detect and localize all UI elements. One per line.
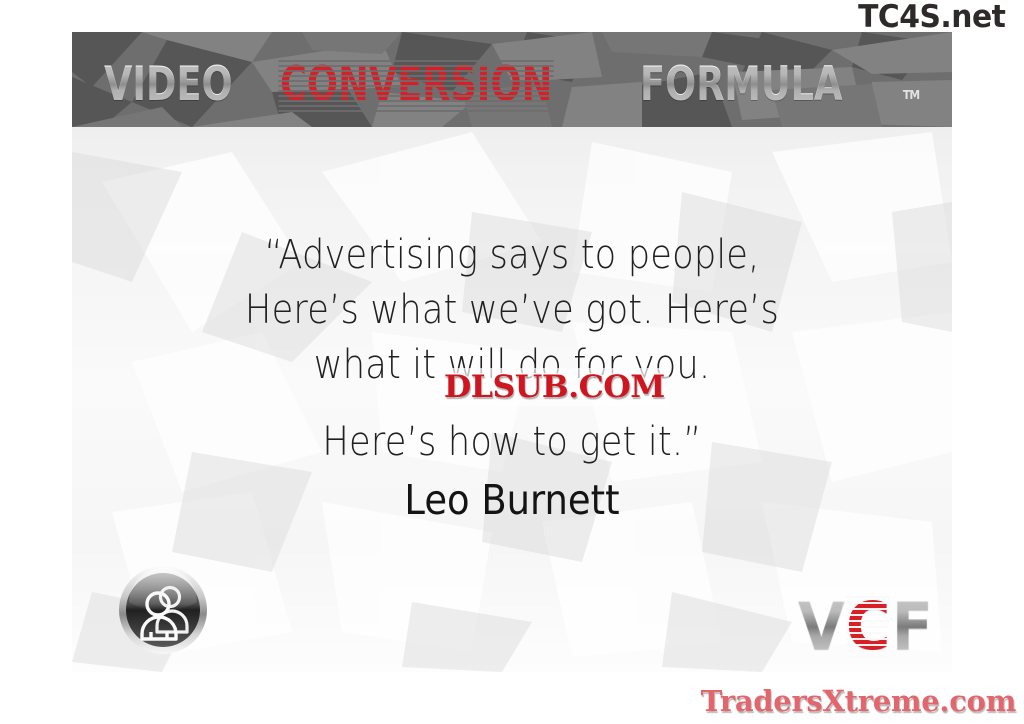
slide-page: TC4S.net bbox=[0, 0, 1024, 724]
quote-attribution: Leo Burnett bbox=[116, 472, 908, 528]
users-group-icon bbox=[117, 564, 209, 656]
watermark-tc4s: TC4S.net bbox=[858, 2, 1005, 33]
logo-word-conversion: CONVERSION bbox=[280, 61, 552, 108]
quote-line-2: Here’s what we’ve got. Here’s bbox=[125, 283, 899, 338]
vcf-logo: V C F bbox=[796, 594, 932, 660]
presentation-slide: VIDEO CONVERSION FORMULA TM “Advertising… bbox=[72, 32, 952, 672]
slide-header-banner: VIDEO CONVERSION FORMULA TM bbox=[72, 32, 952, 127]
logo-word-conversion-text: CONVERSION bbox=[280, 57, 552, 112]
quote-line-4: Here’s how to get it.” bbox=[125, 415, 899, 470]
video-conversion-formula-logo: VIDEO CONVERSION FORMULA TM bbox=[104, 61, 920, 108]
logo-word-video: VIDEO bbox=[104, 61, 233, 108]
watermark-tradersxtreme: TradersXtreme.com bbox=[701, 684, 1016, 718]
logo-word-formula: FORMULA bbox=[640, 61, 842, 108]
users-group-badge[interactable] bbox=[117, 564, 209, 656]
watermark-dlsub: DLSUB.COM bbox=[440, 368, 669, 406]
banner-logo-area: VIDEO CONVERSION FORMULA TM bbox=[72, 32, 952, 127]
quote-line-1: “Advertising says to people, bbox=[125, 228, 899, 283]
vcf-letter-c: C bbox=[846, 594, 888, 660]
vcf-letter-v: V bbox=[798, 594, 842, 660]
vcf-letter-c-text: C bbox=[846, 588, 888, 665]
vcf-letter-f: F bbox=[892, 594, 931, 660]
trademark-symbol: TM bbox=[903, 88, 919, 102]
